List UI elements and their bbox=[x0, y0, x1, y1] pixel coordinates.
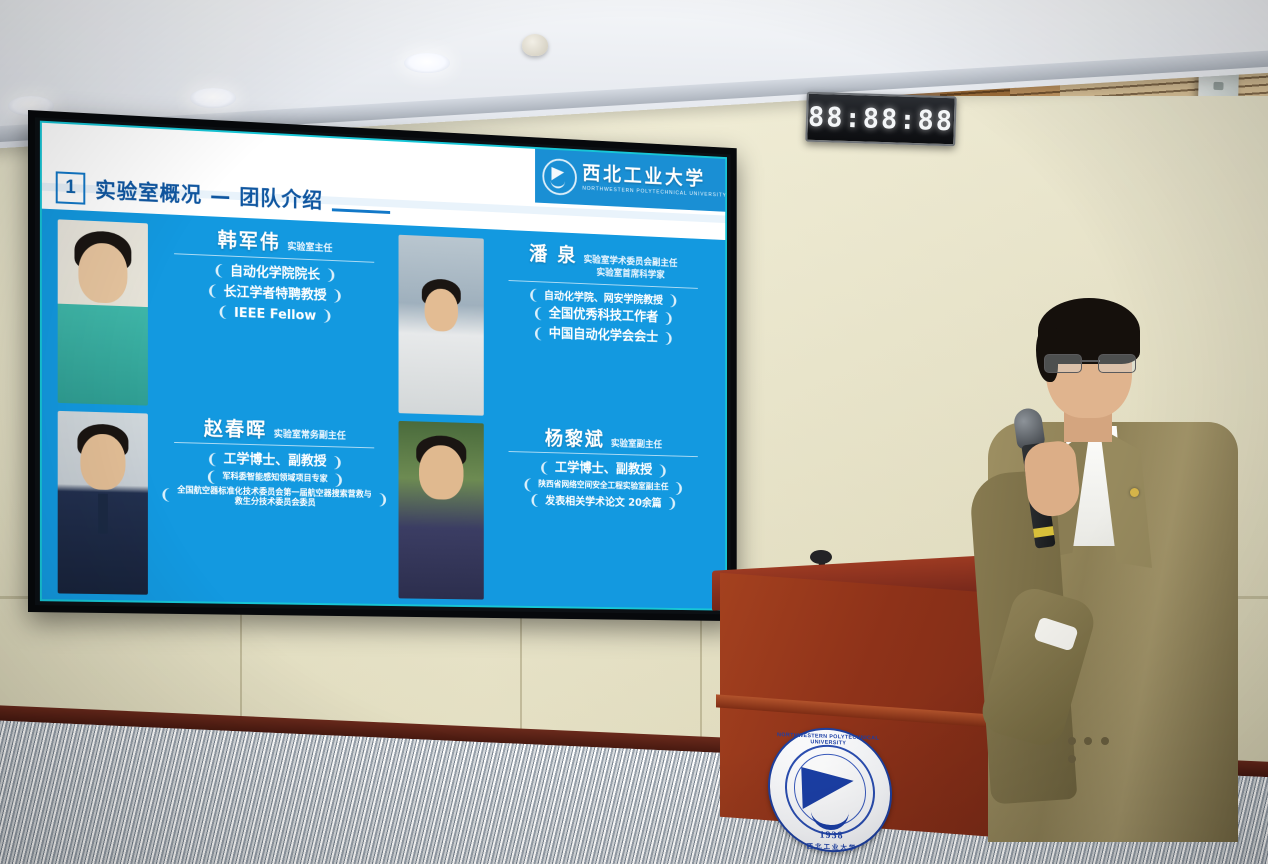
laurel-right-icon: ❩ bbox=[657, 462, 668, 480]
glasses-bridge bbox=[1080, 360, 1100, 362]
laurel-left-icon: ❨ bbox=[532, 324, 543, 342]
member-info: 杨黎斌 实验室副主任 ❨ 工学博士、副教授 ❩ ❨ 陕西省 bbox=[493, 423, 713, 603]
laurel-right-icon: ❩ bbox=[663, 310, 674, 328]
wall-seam-3 bbox=[700, 620, 702, 750]
member-name-row: 杨黎斌 实验室副主任 bbox=[545, 427, 662, 452]
sleeve-button bbox=[1084, 737, 1092, 745]
member-credential: ❨ 全国航空器标准化技术委员会第一届航空器搜索营救与救生分技术委员会委员 ❩ bbox=[158, 485, 391, 511]
member-name-row: 韩军伟 实验室主任 bbox=[218, 229, 333, 256]
credential-text: 中国自动化学会会士 bbox=[549, 326, 658, 345]
member-name: 杨黎斌 bbox=[545, 427, 605, 450]
slide-title: 实验室概况 — 团队介绍 bbox=[95, 174, 323, 214]
credential-text: 长江学者特聘教授 bbox=[224, 284, 327, 304]
sleeve-button bbox=[1068, 755, 1076, 763]
member-portrait bbox=[398, 420, 483, 599]
conference-room-photo: 88:88:88 西北工业大学 NORTHWESTERN POLYTECHNIC… bbox=[0, 0, 1268, 864]
member-role: 实验室学术委员会副主任 实验室首席科学家 bbox=[584, 255, 678, 283]
slide-title-underline bbox=[332, 208, 390, 214]
laurel-right-icon: ❩ bbox=[333, 471, 345, 490]
gooseneck-mic-head bbox=[810, 550, 832, 564]
university-logo: 西北工业大学 NORTHWESTERN POLYTECHNICAL UNIVER… bbox=[535, 149, 725, 212]
portrait-tie bbox=[98, 493, 108, 533]
laurel-right-icon: ❩ bbox=[377, 491, 389, 509]
sleeve-button bbox=[1101, 737, 1109, 745]
sleeve-button bbox=[1068, 737, 1076, 745]
member-portrait bbox=[58, 219, 148, 405]
team-member-card: 潘 泉 实验室学术委员会副主任 实验室首席科学家 ❨ 自动化学院、网安学院教授 bbox=[398, 235, 713, 422]
member-name-row: 潘 泉 实验室学术委员会副主任 实验室首席科学家 bbox=[529, 243, 677, 283]
laurel-right-icon: ❩ bbox=[668, 292, 679, 310]
laurel-left-icon: ❨ bbox=[206, 450, 218, 469]
portrait-face bbox=[424, 288, 457, 332]
member-name: 赵春晖 bbox=[204, 417, 267, 440]
credential-text: 自动化学院院长 bbox=[230, 263, 320, 282]
laurel-right-icon: ❩ bbox=[663, 329, 674, 347]
clock-display: 88:88:88 bbox=[808, 101, 955, 137]
laurel-right-icon: ❩ bbox=[332, 453, 344, 472]
laurel-left-icon: ❨ bbox=[532, 304, 543, 322]
smoke-detector-icon bbox=[522, 34, 548, 56]
member-credential: ❨ 自动化学院、网安学院教授 ❩ bbox=[526, 288, 681, 307]
member-credential: ❨ 中国自动化学会会士 ❩ bbox=[531, 325, 677, 346]
presenter-lapel-pin bbox=[1130, 488, 1139, 497]
credential-text: 工学博士、副教授 bbox=[224, 451, 327, 469]
credential-text: 军科委智能感知领域项目专家 bbox=[222, 472, 327, 484]
laurel-left-icon: ❨ bbox=[529, 491, 540, 509]
slide-body: 韩军伟 实验室主任 ❨ 自动化学院院长 ❩ ❨ 长江学者特 bbox=[42, 209, 725, 609]
speaker-port-upper bbox=[1213, 82, 1223, 90]
credential-text: 全国航空器标准化技术委员会第一届航空器搜索营救与救生分技术委员会委员 bbox=[177, 485, 371, 508]
member-info: 韩军伟 实验室主任 ❨ 自动化学院院长 ❩ ❨ 长江学者特 bbox=[158, 224, 391, 413]
member-credential: ❨ 军科委智能感知领域项目专家 ❩ bbox=[203, 472, 346, 486]
member-credential: ❨ 工学博士、副教授 ❩ bbox=[204, 451, 345, 471]
ceiling-downlight-3 bbox=[404, 53, 450, 73]
member-credential: ❨ 自动化学院院长 ❩ bbox=[211, 263, 339, 285]
laurel-left-icon: ❨ bbox=[160, 486, 172, 505]
team-member-card: 赵春晖 实验室常务副主任 ❨ 工学博士、副教授 ❩ ❨ 军 bbox=[58, 410, 391, 598]
member-name: 韩军伟 bbox=[218, 229, 281, 253]
portrait-face bbox=[80, 433, 125, 490]
ceiling-downlight-2 bbox=[190, 88, 236, 108]
member-role: 实验室主任 bbox=[287, 241, 332, 255]
credential-text: IEEE Fellow bbox=[234, 305, 316, 324]
member-portrait bbox=[398, 235, 483, 416]
laurel-left-icon: ❨ bbox=[206, 282, 218, 301]
member-name: 潘 泉 bbox=[529, 243, 577, 266]
university-emblem: NORTHWESTERN POLYTECHNICAL UNIVERSITY 19… bbox=[766, 726, 894, 855]
credential-text: 发表相关学术论文 20余篇 bbox=[545, 494, 661, 509]
member-role: 实验室常务副主任 bbox=[274, 428, 346, 443]
led-display-screen: 西北工业大学 NORTHWESTERN POLYTECHNICAL UNIVER… bbox=[28, 110, 737, 621]
presenter-sleeve-buttons bbox=[1068, 732, 1124, 744]
portrait-face bbox=[419, 444, 463, 499]
member-name-rule bbox=[508, 451, 698, 457]
credential-text: 陕西省网络空间安全工程实验室副主任 bbox=[538, 480, 668, 493]
slide-section-number: 1 bbox=[56, 171, 86, 204]
member-credential: ❨ 发表相关学术论文 20余篇 ❩ bbox=[527, 494, 679, 511]
member-info: 潘 泉 实验室学术委员会副主任 实验室首席科学家 ❨ 自动化学院、网安学院教授 bbox=[493, 239, 713, 422]
digital-wall-clock: 88:88:88 bbox=[805, 92, 956, 147]
member-name-row: 赵春晖 实验室常务副主任 bbox=[204, 417, 346, 443]
credential-text: 全国优秀科技工作者 bbox=[549, 306, 658, 326]
member-portrait bbox=[58, 410, 148, 594]
laurel-left-icon: ❨ bbox=[217, 303, 229, 322]
member-credential: ❨ IEEE Fellow ❩ bbox=[215, 304, 335, 325]
member-credential: ❨ 陕西省网络空间安全工程实验室副主任 ❩ bbox=[520, 479, 686, 493]
member-info: 赵春晖 实验室常务副主任 ❨ 工学博士、副教授 ❩ ❨ 军 bbox=[158, 413, 391, 598]
portrait-face bbox=[78, 242, 127, 304]
member-name-rule bbox=[174, 253, 374, 263]
glasses-lens-right bbox=[1098, 354, 1136, 373]
slide-title-row: 1 实验室概况 — 团队介绍 bbox=[56, 171, 323, 215]
laurel-right-icon: ❩ bbox=[666, 494, 677, 512]
laurel-right-icon: ❩ bbox=[325, 266, 337, 285]
member-credential: ❨ 全国优秀科技工作者 ❩ bbox=[531, 305, 677, 327]
presenter-person bbox=[960, 292, 1260, 864]
member-credential: ❨ 长江学者特聘教授 ❩ bbox=[204, 283, 345, 305]
university-logo-icon bbox=[542, 158, 577, 196]
member-credential: ❨ 工学博士、副教授 ❩ bbox=[537, 460, 670, 480]
member-role: 实验室副主任 bbox=[611, 438, 662, 452]
laurel-right-icon: ❩ bbox=[321, 307, 333, 326]
slide-content: 西北工业大学 NORTHWESTERN POLYTECHNICAL UNIVER… bbox=[40, 121, 727, 611]
laurel-left-icon: ❨ bbox=[528, 286, 539, 304]
laurel-left-icon: ❨ bbox=[213, 262, 225, 281]
member-name-rule bbox=[174, 442, 374, 448]
laurel-left-icon: ❨ bbox=[205, 468, 217, 487]
presenter-glasses bbox=[1044, 354, 1136, 371]
laurel-right-icon: ❩ bbox=[332, 287, 344, 306]
team-member-card: 韩军伟 实验室主任 ❨ 自动化学院院长 ❩ ❨ 长江学者特 bbox=[58, 219, 391, 412]
laurel-left-icon: ❨ bbox=[538, 459, 549, 477]
emblem-plane-icon bbox=[801, 767, 854, 811]
team-member-card: 杨黎斌 实验室副主任 ❨ 工学博士、副教授 ❩ ❨ 陕西省 bbox=[398, 420, 713, 602]
team-grid: 韩军伟 实验室主任 ❨ 自动化学院院长 ❩ ❨ 长江学者特 bbox=[58, 219, 713, 603]
credential-text: 自动化学院、网安学院教授 bbox=[544, 289, 663, 306]
credential-text: 工学博士、副教授 bbox=[555, 460, 652, 478]
glasses-lens-left bbox=[1044, 354, 1082, 373]
